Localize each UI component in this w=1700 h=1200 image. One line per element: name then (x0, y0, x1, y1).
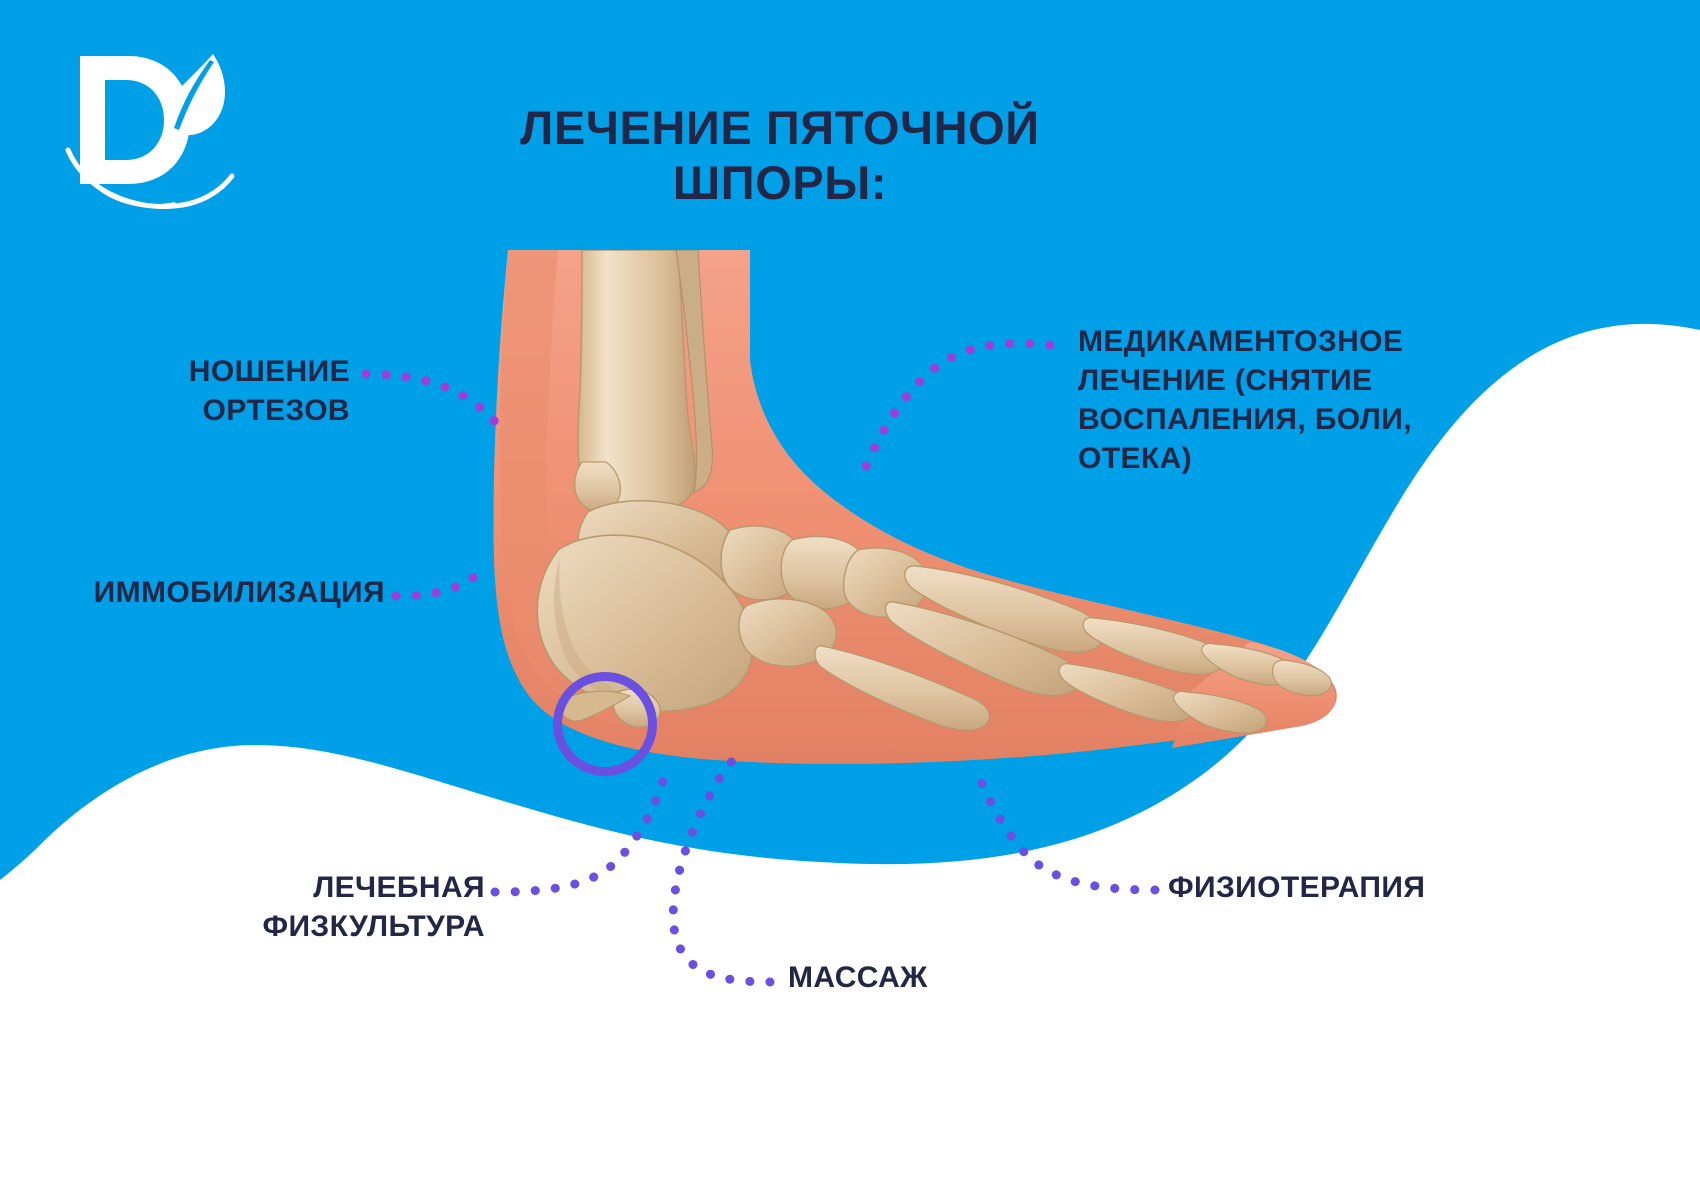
infographic-poster: ЛЕЧЕНИЕ ПЯТОЧНОЙ ШПОРЫ: (0, 0, 1700, 1200)
brand-logo[interactable] (58, 42, 238, 212)
heel-spur-highlight (553, 672, 657, 776)
label-medication: МЕДИКАМЕНТОЗНОЕ ЛЕЧЕНИЕ (СНЯТИЕ ВОСПАЛЕН… (1078, 322, 1478, 478)
swoosh-secondary-icon (92, 182, 174, 206)
page-title: ЛЕЧЕНИЕ ПЯТОЧНОЙ ШПОРЫ: (430, 100, 1130, 211)
label-immobilization: ИММОБИЛИЗАЦИЯ (20, 573, 385, 612)
label-physiotherapy: ФИЗИОТЕРАПИЯ (1168, 868, 1498, 907)
label-massage: МАССАЖ (788, 958, 1028, 997)
label-exercise: ЛЕЧЕБНАЯ ФИЗКУЛЬТУРА (180, 868, 485, 946)
label-orthoses: НОШЕНИЕ ОРТЕЗОВ (60, 352, 350, 430)
